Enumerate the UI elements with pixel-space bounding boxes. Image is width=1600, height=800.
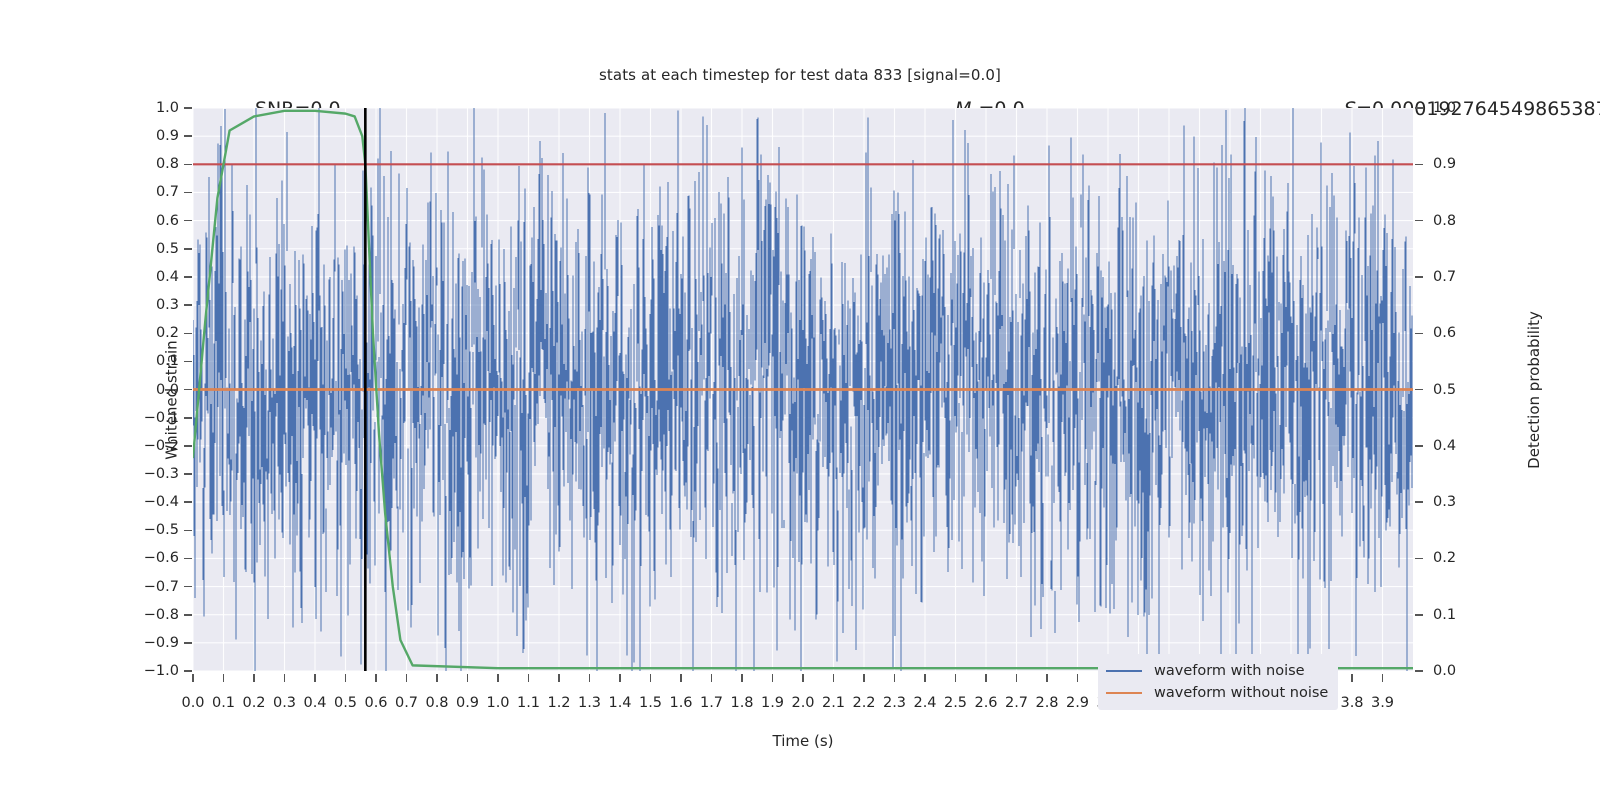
tick-mark: [772, 674, 774, 682]
tick-mark: [528, 674, 530, 682]
tick-label: 1.0: [1433, 100, 1477, 116]
tick-label: 0.0: [181, 695, 204, 711]
tick-mark: [184, 333, 192, 335]
tick-label: 0.5: [135, 241, 179, 257]
tick-label: 1.4: [608, 695, 631, 711]
tick-label: 0.9: [135, 128, 179, 144]
tick-mark: [184, 642, 192, 644]
tick-mark: [1415, 558, 1423, 560]
tick-label: −0.6: [135, 550, 179, 566]
tick-label: 0.3: [273, 695, 296, 711]
tick-label: 1.0: [135, 100, 179, 116]
tick-mark: [184, 220, 192, 222]
tick-mark: [184, 304, 192, 306]
legend-item[interactable]: waveform without noise: [1106, 682, 1328, 704]
tick-label: 0.6: [364, 695, 387, 711]
tick-label: −0.4: [135, 494, 179, 510]
legend-swatch-icon: [1106, 670, 1142, 672]
tick-mark: [985, 674, 987, 682]
figure-canvas: stats at each timestep for test data 833…: [0, 0, 1600, 800]
tick-label: 0.4: [303, 695, 326, 711]
tick-mark: [894, 674, 896, 682]
tick-mark: [711, 674, 713, 682]
tick-label: 2.3: [883, 695, 906, 711]
tick-label: −0.2: [135, 438, 179, 454]
tick-label: 0.6: [135, 213, 179, 229]
tick-label: 0.7: [1433, 269, 1477, 285]
tick-mark: [284, 674, 286, 682]
tick-mark: [375, 674, 377, 682]
tick-mark: [184, 192, 192, 194]
tick-label: 0.5: [1433, 382, 1477, 398]
tick-label: 0.3: [1433, 494, 1477, 510]
tick-mark: [1415, 220, 1423, 222]
tick-label: 2.6: [974, 695, 997, 711]
tick-label: 0.8: [1433, 213, 1477, 229]
tick-label: 1.8: [730, 695, 753, 711]
tick-label: 1.5: [639, 695, 662, 711]
tick-label: 2.0: [791, 695, 814, 711]
tick-mark: [436, 674, 438, 682]
tick-mark: [1046, 674, 1048, 682]
tick-mark: [345, 674, 347, 682]
x-axis-label: Time (s): [193, 732, 1413, 750]
tick-mark: [802, 674, 804, 682]
tick-label: −0.9: [135, 635, 179, 651]
tick-mark: [833, 674, 835, 682]
tick-label: 0.9: [456, 695, 479, 711]
legend-label: waveform without noise: [1154, 685, 1328, 701]
tick-label: 0.7: [395, 695, 418, 711]
tick-mark: [184, 445, 192, 447]
legend: waveform with noisewaveform without nois…: [1098, 654, 1338, 710]
tick-mark: [924, 674, 926, 682]
tick-mark: [184, 614, 192, 616]
tick-label: −0.7: [135, 579, 179, 595]
tick-mark: [1415, 164, 1423, 166]
tick-label: −0.1: [135, 410, 179, 426]
tick-mark: [1415, 501, 1423, 503]
tick-label: 3.8: [1340, 695, 1363, 711]
tick-label: 2.1: [822, 695, 845, 711]
tick-mark: [1016, 674, 1018, 682]
tick-mark: [184, 107, 192, 109]
tick-label: −1.0: [135, 663, 179, 679]
tick-label: 1.3: [578, 695, 601, 711]
tick-mark: [253, 674, 255, 682]
page-title: stats at each timestep for test data 833…: [0, 66, 1600, 84]
y-axis-label-right: Detection probability: [1525, 311, 1543, 469]
tick-mark: [955, 674, 957, 682]
tick-mark: [1415, 276, 1423, 278]
tick-mark: [680, 674, 682, 682]
tick-mark: [184, 164, 192, 166]
tick-mark: [223, 674, 225, 682]
tick-mark: [184, 276, 192, 278]
tick-mark: [184, 501, 192, 503]
tick-label: 1.0: [486, 695, 509, 711]
tick-mark: [863, 674, 865, 682]
tick-mark: [1415, 389, 1423, 391]
tick-mark: [184, 135, 192, 137]
tick-label: 3.9: [1371, 695, 1394, 711]
tick-label: 2.4: [913, 695, 936, 711]
tick-label: 0.0: [135, 382, 179, 398]
tick-label: 0.8: [425, 695, 448, 711]
plot-area: [193, 108, 1413, 671]
tick-label: 0.0: [1433, 663, 1477, 679]
tick-mark: [1415, 107, 1423, 109]
tick-label: 1.1: [517, 695, 540, 711]
tick-mark: [558, 674, 560, 682]
tick-mark: [184, 586, 192, 588]
legend-item[interactable]: waveform with noise: [1106, 660, 1328, 682]
tick-label: 0.9: [1433, 156, 1477, 172]
plot-svg: [193, 108, 1413, 671]
tick-mark: [184, 417, 192, 419]
tick-mark: [184, 670, 192, 672]
tick-label: 1.6: [669, 695, 692, 711]
tick-mark: [314, 674, 316, 682]
tick-label: 0.8: [135, 156, 179, 172]
tick-mark: [1415, 333, 1423, 335]
tick-mark: [619, 674, 621, 682]
tick-label: 0.1: [1433, 607, 1477, 623]
legend-swatch-icon: [1106, 692, 1142, 694]
tick-mark: [184, 389, 192, 391]
tick-mark: [589, 674, 591, 682]
tick-mark: [184, 558, 192, 560]
tick-label: 2.7: [1005, 695, 1028, 711]
tick-mark: [184, 248, 192, 250]
tick-label: −0.5: [135, 522, 179, 538]
tick-label: 0.7: [135, 184, 179, 200]
tick-mark: [1415, 445, 1423, 447]
tick-label: 0.2: [135, 325, 179, 341]
tick-mark: [467, 674, 469, 682]
tick-label: 2.2: [852, 695, 875, 711]
tick-mark: [497, 674, 499, 682]
tick-label: 0.5: [334, 695, 357, 711]
tick-label: 0.2: [1433, 550, 1477, 566]
tick-label: −0.3: [135, 466, 179, 482]
tick-mark: [406, 674, 408, 682]
tick-mark: [192, 674, 194, 682]
tick-mark: [1382, 674, 1384, 682]
tick-mark: [1077, 674, 1079, 682]
tick-label: 2.9: [1066, 695, 1089, 711]
tick-label: 0.6: [1433, 325, 1477, 341]
tick-label: 1.9: [761, 695, 784, 711]
tick-label: 2.8: [1035, 695, 1058, 711]
tick-label: 0.4: [135, 269, 179, 285]
tick-mark: [1351, 674, 1353, 682]
tick-label: −0.8: [135, 607, 179, 623]
legend-label: waveform with noise: [1154, 663, 1305, 679]
tick-mark: [1415, 670, 1423, 672]
tick-mark: [1415, 614, 1423, 616]
tick-label: 2.5: [944, 695, 967, 711]
tick-label: 0.1: [135, 353, 179, 369]
tick-label: 1.7: [700, 695, 723, 711]
tick-label: 0.3: [135, 297, 179, 313]
tick-mark: [184, 473, 192, 475]
tick-mark: [741, 674, 743, 682]
tick-label: 0.4: [1433, 438, 1477, 454]
tick-label: 0.2: [242, 695, 265, 711]
tick-mark: [184, 361, 192, 363]
tick-label: 0.1: [212, 695, 235, 711]
tick-label: 1.2: [547, 695, 570, 711]
tick-mark: [184, 530, 192, 532]
tick-mark: [650, 674, 652, 682]
